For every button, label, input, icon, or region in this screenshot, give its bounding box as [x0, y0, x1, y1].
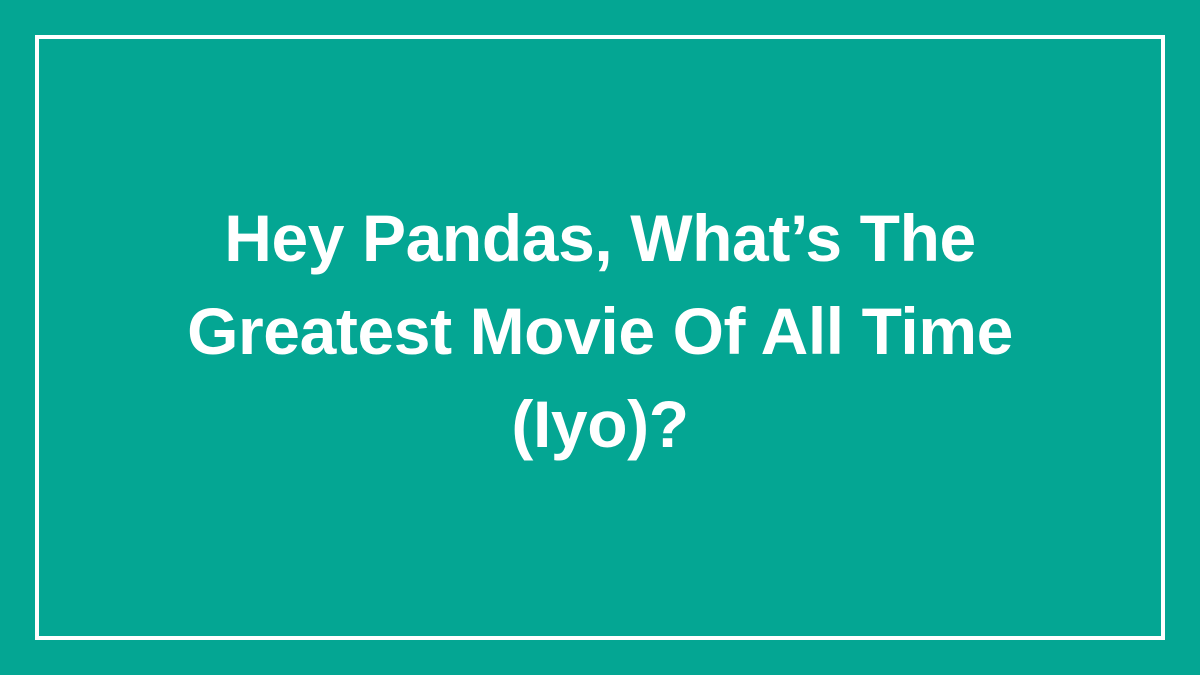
- headline-line-3: (Iyo)?: [70, 378, 1130, 471]
- headline-line-2: Greatest Movie Of All Time: [70, 285, 1130, 378]
- headline-text-group: Hey Pandas, What’s The Greatest Movie Of…: [70, 192, 1130, 471]
- headline-block: Hey Pandas, What’s The Greatest Movie Of…: [0, 0, 1200, 675]
- headline-line-1: Hey Pandas, What’s The: [70, 192, 1130, 285]
- banner-canvas: Hey Pandas, What’s The Greatest Movie Of…: [0, 0, 1200, 675]
